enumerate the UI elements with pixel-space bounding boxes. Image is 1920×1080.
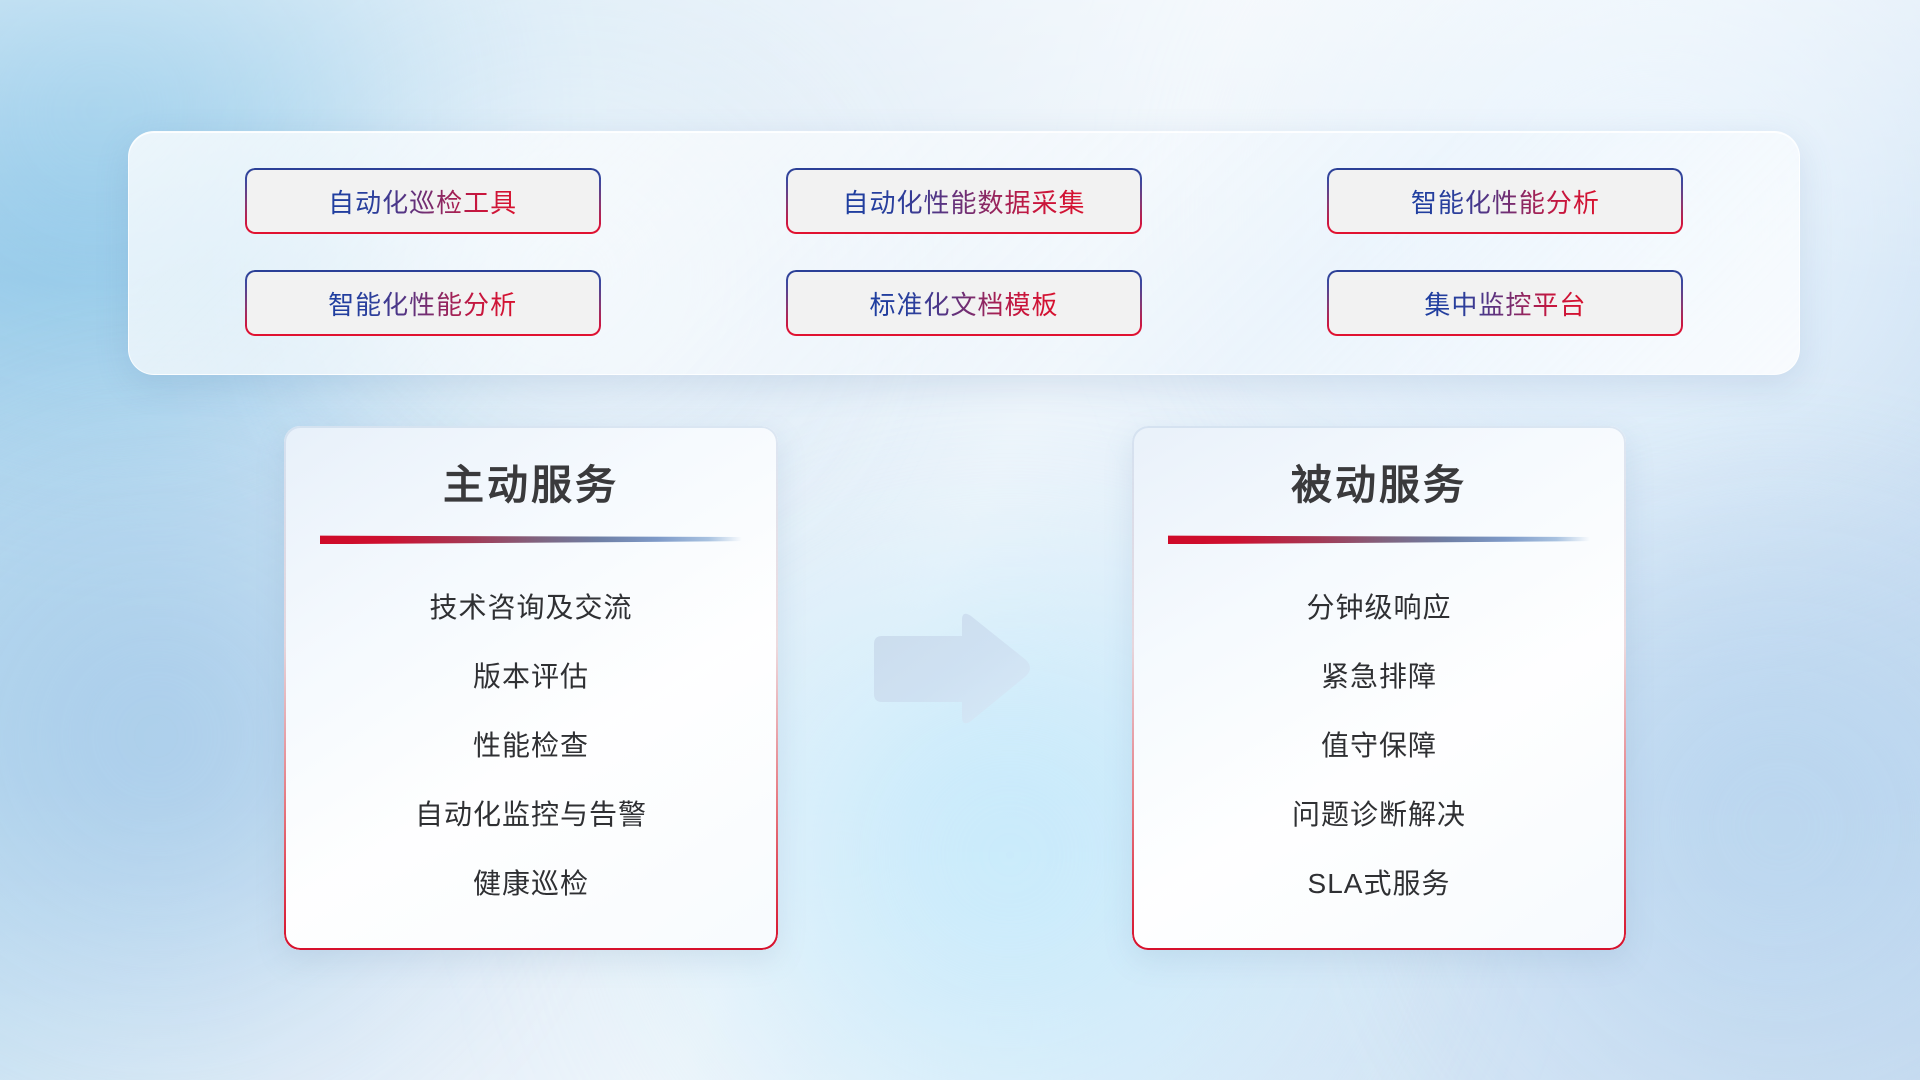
capability-pill-label: 集中监控平台	[1424, 285, 1586, 322]
service-list-item: 技术咨询及交流	[314, 572, 748, 641]
capability-pill-label: 自动化性能数据采集	[842, 183, 1085, 220]
service-list-item: 分钟级响应	[1162, 572, 1596, 641]
arrow-right-icon	[866, 608, 1036, 730]
service-card-title: 主动服务	[314, 460, 748, 511]
service-list-item: 紧急排障	[1162, 641, 1596, 710]
service-card-passive: 被动服务 分钟级响应 紧急排障 值守保障 问题诊断解决 SLA式服务	[1132, 426, 1626, 950]
capability-pill[interactable]: 标准化文档模板	[786, 270, 1142, 336]
capability-pill-label: 智能化性能分析	[328, 285, 517, 322]
service-list-item: 自动化监控与告警	[314, 779, 748, 848]
service-card-title: 被动服务	[1162, 460, 1596, 511]
capability-pill[interactable]: 智能化性能分析	[1327, 168, 1683, 234]
capability-pill-label: 标准化文档模板	[869, 285, 1058, 322]
service-list-item: 性能检查	[314, 710, 748, 779]
title-divider	[320, 533, 742, 544]
capability-pill[interactable]: 集中监控平台	[1327, 270, 1683, 336]
service-list-item: 版本评估	[314, 641, 748, 710]
service-list-item: 健康巡检	[314, 848, 748, 917]
capability-pill[interactable]: 自动化巡检工具	[245, 168, 601, 234]
service-list-item: 值守保障	[1162, 710, 1596, 779]
service-item-list: 分钟级响应 紧急排障 值守保障 问题诊断解决 SLA式服务	[1162, 572, 1596, 917]
capability-panel: 自动化巡检工具 自动化性能数据采集 智能化性能分析 智能化性能分析 标准化文档模…	[128, 131, 1800, 375]
service-list-item: 问题诊断解决	[1162, 779, 1596, 848]
service-card-active: 主动服务 技术咨询及交流 版本评估 性能检查 自动化监控与告警 健康巡检	[284, 426, 778, 950]
capability-pill[interactable]: 自动化性能数据采集	[786, 168, 1142, 234]
title-divider	[1168, 533, 1590, 544]
capability-pill[interactable]: 智能化性能分析	[245, 270, 601, 336]
capability-pill-label: 自动化巡检工具	[328, 183, 517, 220]
service-item-list: 技术咨询及交流 版本评估 性能检查 自动化监控与告警 健康巡检	[314, 572, 748, 917]
capability-pill-label: 智能化性能分析	[1411, 183, 1600, 220]
service-list-item: SLA式服务	[1162, 848, 1596, 917]
